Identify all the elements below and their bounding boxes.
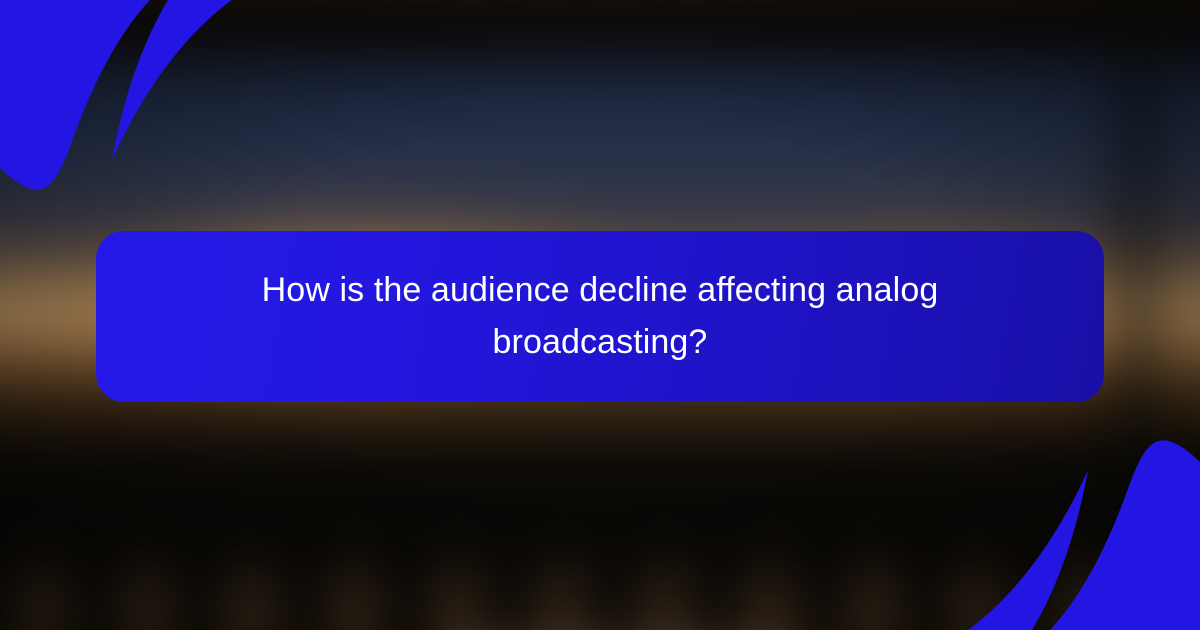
social-share-card: How is the audience decline affecting an… [0,0,1200,630]
question-text: How is the audience decline affecting an… [215,265,985,368]
question-card: How is the audience decline affecting an… [96,231,1104,402]
